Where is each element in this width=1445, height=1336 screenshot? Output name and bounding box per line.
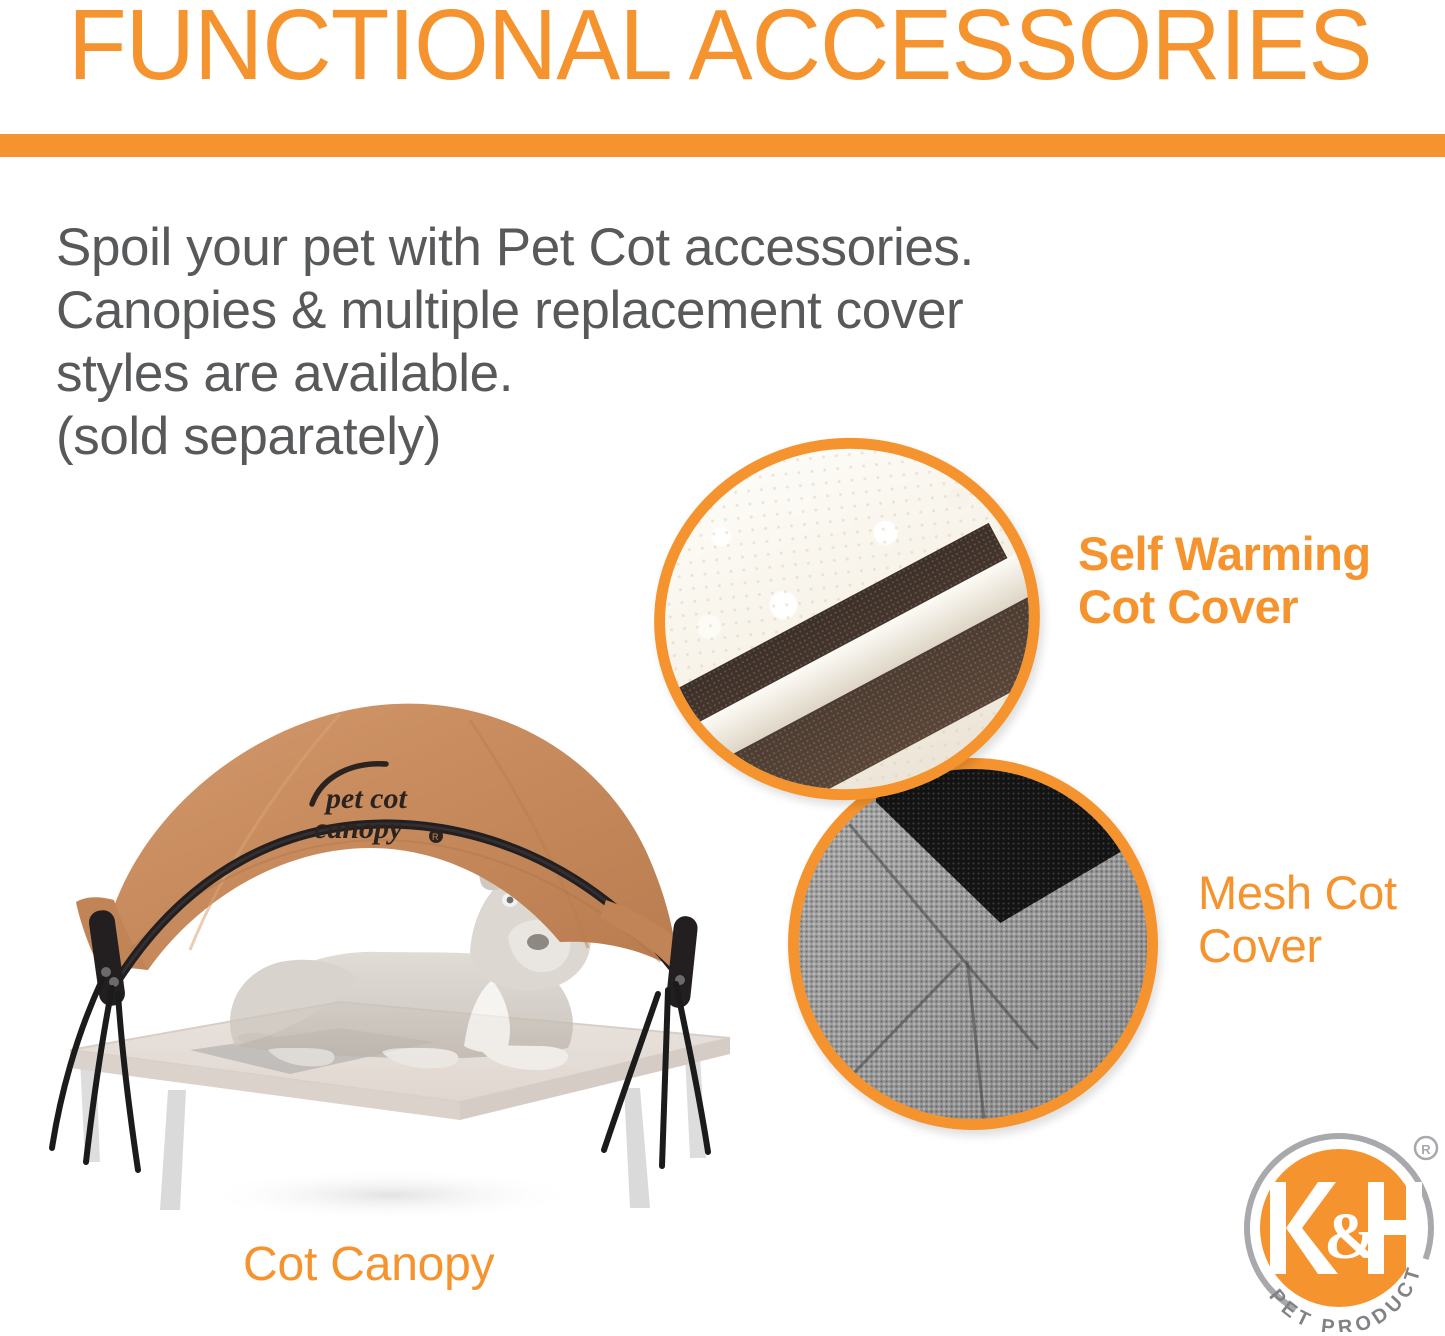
- cot-canopy-product-image: pet cot canopy R: [40, 650, 760, 1250]
- description-line-4: (sold separately): [56, 405, 1286, 468]
- sherpa-fleece-texture: [648, 431, 1046, 807]
- self-warming-cot-cover-swatch: [636, 419, 1058, 819]
- infographic-canvas: FUNCTIONAL ACCESSORIES Spoil your pet wi…: [0, 0, 1445, 1336]
- description-line-3: styles are available.: [56, 342, 1286, 405]
- self-warming-label-line-2: Cot Cover: [1078, 580, 1438, 633]
- mesh-cot-cover-label: Mesh Cot Cover: [1198, 866, 1445, 972]
- svg-text:canopy: canopy: [314, 812, 403, 845]
- description-line-2: Canopies & multiple replacement cover: [56, 279, 1286, 342]
- page-title: FUNCTIONAL ACCESSORIES: [68, 0, 1372, 104]
- header-divider-bar: [0, 134, 1445, 157]
- kh-pet-products-logo: & R PET PRODUCTS: [1236, 1132, 1442, 1332]
- svg-text:R: R: [432, 832, 439, 842]
- description-text: Spoil your pet with Pet Cot accessories.…: [56, 216, 1286, 468]
- registered-trademark-icon: R: [1415, 1137, 1437, 1159]
- svg-text:pet cot: pet cot: [323, 782, 408, 815]
- ground-shadow: [200, 1169, 580, 1221]
- svg-text:R: R: [1421, 1142, 1431, 1157]
- mesh-fabric-texture: [799, 769, 1147, 1119]
- description-line-1: Spoil your pet with Pet Cot accessories.: [56, 216, 1286, 279]
- self-warming-label-line-1: Self Warming: [1078, 527, 1438, 580]
- mesh-cot-cover-swatch: [788, 758, 1158, 1130]
- mesh-label-line-1: Mesh Cot: [1198, 866, 1445, 919]
- self-warming-cot-cover-label: Self Warming Cot Cover: [1078, 527, 1438, 633]
- mesh-label-line-2: Cover: [1198, 919, 1445, 972]
